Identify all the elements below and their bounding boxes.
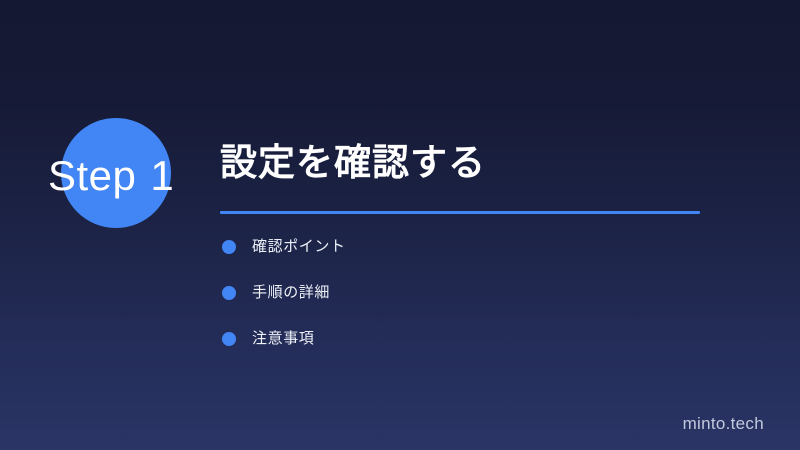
step-number: 1 bbox=[150, 152, 174, 199]
footer-brand: minto.tech bbox=[683, 414, 764, 434]
bullet-dot-icon bbox=[222, 332, 236, 346]
list-item: 確認ポイント bbox=[220, 232, 700, 262]
bullet-list: 確認ポイント 手順の詳細 注意事項 bbox=[220, 232, 700, 354]
bullet-dot-icon bbox=[222, 286, 236, 300]
step-label: Step1 bbox=[48, 151, 174, 201]
list-item-label: 注意事項 bbox=[252, 324, 314, 354]
list-item: 注意事項 bbox=[220, 324, 700, 354]
list-item-label: 確認ポイント bbox=[252, 232, 346, 262]
slide-canvas: Step1 設定を確認する 確認ポイント 手順の詳細 注意事項 minto.te… bbox=[0, 0, 800, 450]
slide-title: 設定を確認する bbox=[220, 140, 760, 186]
step-word: Step bbox=[48, 152, 136, 199]
bullet-dot-icon bbox=[222, 240, 236, 254]
title-divider bbox=[220, 211, 700, 214]
list-item-label: 手順の詳細 bbox=[252, 278, 330, 308]
list-item: 手順の詳細 bbox=[220, 278, 700, 308]
title-block: 設定を確認する bbox=[220, 140, 760, 186]
